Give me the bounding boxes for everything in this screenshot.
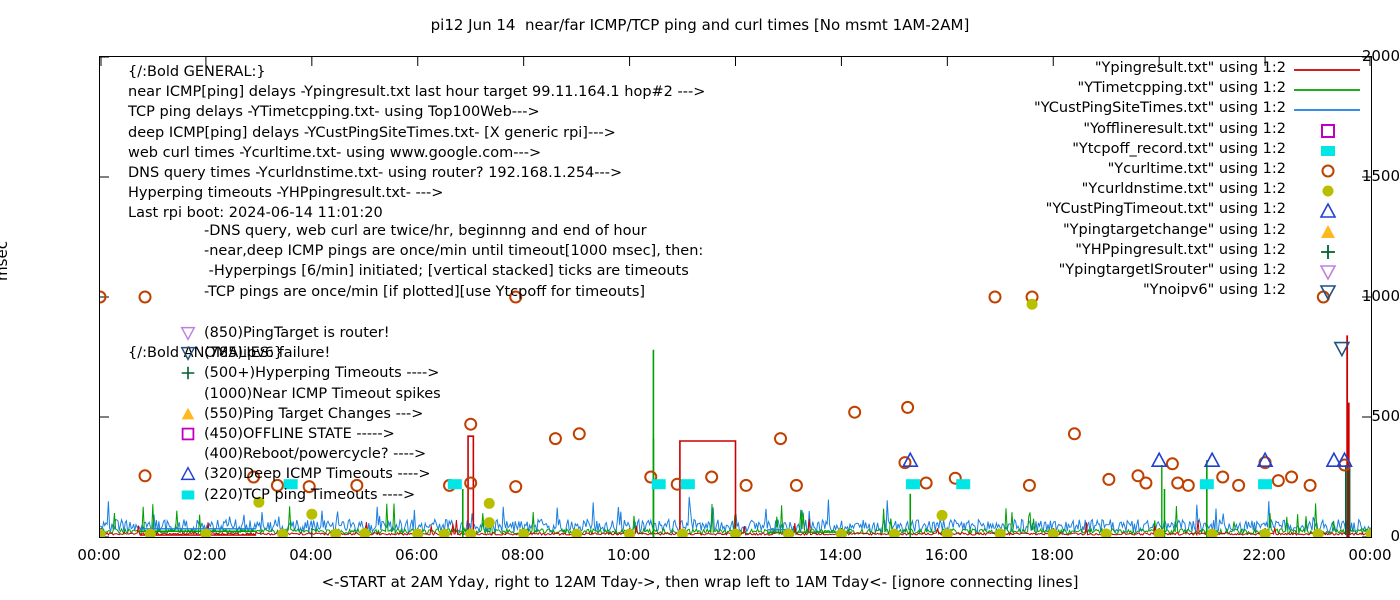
- circle-open-orange-icon: [140, 470, 151, 481]
- anomaly-marker: [178, 486, 200, 504]
- x-tick-label: 16:00: [906, 546, 986, 564]
- anomaly-label: (450)OFFLINE STATE ----->: [204, 426, 395, 442]
- legend-entry: "Ynoipv6" using 1:2: [980, 282, 1372, 302]
- curltime-point: [550, 433, 561, 444]
- measurement-note-line: -TCP pings are once/min [if plotted][use…: [204, 282, 703, 302]
- legend-key: [1292, 60, 1372, 80]
- circle-filled-olive-icon: [1366, 529, 1372, 537]
- measurement-note-line: -near,deep ICMP pings are once/min until…: [204, 241, 703, 261]
- legend-label: "Ycurltime.txt" using 1:2: [1108, 161, 1286, 177]
- anomaly-item: (400)Reboot/powercycle? ---->: [204, 444, 441, 464]
- circle-open-orange-icon: [1217, 472, 1228, 483]
- chart-title: pi12 Jun 14 near/far ICMP/TCP ping and c…: [0, 16, 1400, 34]
- curltime-point: [465, 419, 476, 430]
- curldns-point: [200, 529, 211, 537]
- triangle-down-blue-icon: [1318, 282, 1338, 302]
- legend-entry: "Yofflineresult.txt" using 1:2: [980, 121, 1372, 141]
- measurement-note-line: -DNS query, web curl are twice/hr, begin…: [204, 221, 703, 241]
- curldns-point: [484, 498, 495, 509]
- circle-open-orange-icon: [1233, 480, 1244, 491]
- anomaly-item: (785)ipv6 failure!: [204, 343, 441, 363]
- circle-open-orange-icon: [1140, 478, 1151, 489]
- anomaly-label: (320)Deep ICMP Timeouts ---->: [204, 466, 431, 482]
- curltime-point: [849, 407, 860, 418]
- square-filled-cyan-icon: [681, 479, 695, 489]
- circle-filled-olive-icon: [200, 529, 211, 537]
- anomaly-item: (1000)Near ICMP Timeout spikes: [204, 384, 441, 404]
- curltime-point: [1103, 474, 1114, 485]
- general-annotation-block: {/:Bold GENERAL:}near ICMP[ping] delays …: [128, 62, 705, 224]
- legend-key: [1292, 141, 1372, 161]
- legend-label: "Ynoipv6" using 1:2: [1143, 282, 1286, 298]
- circle-open-orange-icon: [1273, 475, 1284, 486]
- circle-filled-olive-icon: [937, 510, 948, 521]
- anomaly-marker: [178, 465, 200, 483]
- circle-filled-olive-icon: [1207, 529, 1218, 537]
- curldns-point: [889, 529, 900, 537]
- legend-key: [1292, 222, 1372, 242]
- curltime-point: [140, 292, 151, 303]
- legend-key: [1292, 100, 1372, 120]
- legend-label: "YTimetcpping.txt" using 1:2: [1078, 80, 1286, 96]
- circle-filled-olive-icon: [484, 498, 495, 509]
- x-tick-label: 18:00: [1012, 546, 1092, 564]
- legend-key: [1292, 121, 1372, 141]
- circle-open-orange-icon: [465, 478, 476, 489]
- circle-open-orange-icon: [1318, 161, 1338, 181]
- legend-label: "Ypingresult.txt" using 1:2: [1095, 60, 1286, 76]
- curltime-point: [140, 470, 151, 481]
- legend-entry: "YHPpingresult.txt" using 1:2: [980, 242, 1372, 262]
- curltime-point: [1167, 458, 1178, 469]
- general-line: deep ICMP[ping] delays -YCustPingSiteTim…: [128, 123, 705, 143]
- plus-green-icon: [1318, 242, 1338, 262]
- circle-open-orange-icon: [791, 480, 802, 491]
- chart-legend: "Ypingresult.txt" using 1:2"YTimetcpping…: [980, 60, 1372, 302]
- triangle-up-blue-icon: [1318, 201, 1338, 221]
- y-axis-label: msec: [0, 241, 11, 281]
- curltime-point: [921, 478, 932, 489]
- legend-line-sample: [1292, 80, 1372, 100]
- curltime-point: [706, 472, 717, 483]
- legend-key: [1292, 161, 1372, 181]
- anomaly-marker: [178, 425, 200, 443]
- square-filled-cyan-icon: [1318, 141, 1338, 161]
- circle-open-orange-icon: [1183, 480, 1194, 491]
- curldns-point: [1207, 529, 1218, 537]
- near-icmp-plateau: [468, 436, 473, 535]
- curldns-point: [1366, 529, 1372, 537]
- circle-open-orange-icon: [1069, 428, 1080, 439]
- anomalies-list: (850)PingTarget is router!(785)ipv6 fail…: [204, 323, 441, 505]
- measurement-note-line: -Hyperpings [6/min] initiated; [vertical…: [204, 261, 703, 281]
- triangle-down-violet-icon: [1318, 262, 1338, 282]
- legend-label: "YHPpingresult.txt" using 1:2: [1075, 242, 1286, 258]
- x-tick-label: 12:00: [695, 546, 775, 564]
- anomaly-label: (500+)Hyperping Timeouts ---->: [204, 365, 439, 381]
- square-filled-cyan-icon: [906, 479, 920, 489]
- anomaly-item: (850)PingTarget is router!: [204, 323, 441, 343]
- circle-open-orange-icon: [574, 428, 585, 439]
- legend-entry: "Ycurldnstime.txt" using 1:2: [980, 181, 1372, 201]
- circle-open-orange-icon: [849, 407, 860, 418]
- general-line: web curl times -Ycurltime.txt- using www…: [128, 143, 705, 163]
- x-tick-label: 02:00: [165, 546, 245, 564]
- tcpoff-point: [652, 479, 666, 489]
- general-line: DNS query times -Ycurldnstime.txt- using…: [128, 163, 705, 183]
- anomaly-item: (450)OFFLINE STATE ----->: [204, 424, 441, 444]
- circle-open-orange-icon: [140, 292, 151, 303]
- square-filled-cyan-icon: [956, 479, 970, 489]
- square-filled-cyan-icon: [1200, 479, 1214, 489]
- custping-timeout-point: [1152, 453, 1166, 466]
- square-filled-cyan-icon: [178, 486, 198, 504]
- legend-label: "Ypingtargetchange" using 1:2: [1063, 222, 1286, 238]
- anomaly-label: (400)Reboot/powercycle? ---->: [204, 446, 426, 462]
- anomaly-label: (220)TCP ping Timeouts ---->: [204, 487, 415, 503]
- x-tick-label: 04:00: [271, 546, 351, 564]
- tcpoff-point: [1258, 479, 1272, 489]
- square-open-magenta-icon: [178, 425, 198, 443]
- curltime-point: [1273, 475, 1284, 486]
- legend-line-sample: [1292, 100, 1372, 120]
- legend-entry: "YCustPingSiteTimes.txt" using 1:2: [980, 100, 1372, 120]
- curltime-point: [791, 480, 802, 491]
- triangle-up-orange-icon: [1318, 222, 1338, 242]
- circle-filled-olive-icon: [100, 529, 106, 537]
- curltime-point: [1233, 480, 1244, 491]
- circle-filled-olive-icon: [306, 509, 317, 520]
- triangle-up-blue-icon: [1152, 453, 1166, 466]
- general-line: near ICMP[ping] delays -Ypingresult.txt …: [128, 82, 705, 102]
- curltime-point: [574, 428, 585, 439]
- curldns-point: [100, 529, 106, 537]
- x-tick-label: 06:00: [377, 546, 457, 564]
- legend-key: [1292, 262, 1372, 282]
- curldns-point: [937, 510, 948, 521]
- legend-key: [1292, 282, 1372, 302]
- tcpoff-point: [956, 479, 970, 489]
- anomaly-item: (220)TCP ping Timeouts ---->: [204, 485, 441, 505]
- circle-filled-olive-icon: [484, 517, 495, 528]
- circle-open-orange-icon: [921, 478, 932, 489]
- circle-open-orange-icon: [1286, 472, 1297, 483]
- curltime-point: [1305, 480, 1316, 491]
- anomaly-label: (1000)Near ICMP Timeout spikes: [204, 386, 441, 402]
- legend-entry: "Ypingtargetchange" using 1:2: [980, 222, 1372, 242]
- general-line: TCP ping delays -YTimetcpping.txt- using…: [128, 102, 705, 122]
- circle-open-orange-icon: [465, 419, 476, 430]
- curltime-point: [1069, 428, 1080, 439]
- circle-open-orange-icon: [902, 402, 913, 413]
- circle-filled-olive-icon: [836, 529, 847, 537]
- legend-label: "YCustPingTimeout.txt" using 1:2: [1046, 201, 1286, 217]
- x-tick-label: 10:00: [589, 546, 669, 564]
- plus-green-icon: [178, 364, 198, 382]
- curltime-point: [775, 433, 786, 444]
- legend-entry: "YCustPingTimeout.txt" using 1:2: [980, 201, 1372, 221]
- legend-key: [1292, 242, 1372, 262]
- square-filled-cyan-icon: [652, 479, 666, 489]
- anomaly-marker: [178, 324, 200, 342]
- circle-open-orange-icon: [706, 472, 717, 483]
- curltime-point: [510, 481, 521, 492]
- circle-open-orange-icon: [1103, 474, 1114, 485]
- curltime-point: [1217, 472, 1228, 483]
- circle-open-orange-icon: [550, 433, 561, 444]
- x-tick-label: 14:00: [800, 546, 880, 564]
- curltime-point: [741, 480, 752, 491]
- curltime-point: [465, 478, 476, 489]
- curltime-point: [1172, 478, 1183, 489]
- legend-entry: "Ycurltime.txt" using 1:2: [980, 161, 1372, 181]
- curltime-point: [1286, 472, 1297, 483]
- anomaly-label: (850)PingTarget is router!: [204, 325, 390, 341]
- curltime-point: [902, 402, 913, 413]
- anomaly-item: (550)Ping Target Changes --->: [204, 404, 441, 424]
- curldns-point: [306, 509, 317, 520]
- legend-line-sample: [1292, 60, 1372, 80]
- anomaly-label: (550)Ping Target Changes --->: [204, 406, 423, 422]
- circle-open-orange-icon: [1167, 458, 1178, 469]
- x-tick-label: 08:00: [483, 546, 563, 564]
- tcpoff-point: [1200, 479, 1214, 489]
- circle-filled-olive-icon: [889, 529, 900, 537]
- x-tick-label: 00:00: [59, 546, 139, 564]
- tcpoff-point: [906, 479, 920, 489]
- circle-filled-olive-icon: [359, 528, 370, 537]
- general-line: Hyperping timeouts -YHPpingresult.txt- -…: [128, 183, 705, 203]
- anomaly-marker: [178, 344, 200, 362]
- x-axis-label: <-START at 2AM Yday, right to 12AM Tday-…: [0, 573, 1400, 591]
- anomaly-item: (320)Deep ICMP Timeouts ---->: [204, 464, 441, 484]
- legend-entry: "YTimetcpping.txt" using 1:2: [980, 80, 1372, 100]
- triangle-up-orange-icon: [178, 405, 198, 423]
- anomaly-marker: [178, 364, 200, 382]
- legend-label: "Yofflineresult.txt" using 1:2: [1083, 121, 1286, 137]
- triangle-down-violet-icon: [178, 324, 198, 342]
- circle-open-orange-icon: [1305, 480, 1316, 491]
- legend-label: "YpingtargetISrouter" using 1:2: [1059, 262, 1286, 278]
- triangle-down-blue-icon: [178, 344, 198, 362]
- legend-key: [1292, 181, 1372, 201]
- curldns-point: [484, 517, 495, 528]
- x-tick-label: 22:00: [1224, 546, 1304, 564]
- curltime-point: [1024, 480, 1035, 491]
- general-heading: {/:Bold GENERAL:}: [128, 62, 705, 82]
- circle-open-orange-icon: [1172, 478, 1183, 489]
- square-filled-cyan-icon: [448, 479, 462, 489]
- measurement-notes-block: -DNS query, web curl are twice/hr, begin…: [204, 221, 703, 302]
- tcpoff-point: [681, 479, 695, 489]
- anomaly-label: (785)ipv6 failure!: [204, 345, 330, 361]
- circle-open-orange-icon: [775, 433, 786, 444]
- legend-label: "Ycurldnstime.txt" using 1:2: [1082, 181, 1286, 197]
- x-tick-label: 00:00: [1330, 546, 1400, 564]
- chart-page: pi12 Jun 14 near/far ICMP/TCP ping and c…: [0, 0, 1400, 600]
- legend-entry: "YpingtargetISrouter" using 1:2: [980, 262, 1372, 282]
- curldns-point: [359, 528, 370, 537]
- legend-entry: "Ypingresult.txt" using 1:2: [980, 60, 1372, 80]
- legend-entry: "Ytcpoff_record.txt" using 1:2: [980, 141, 1372, 161]
- curltime-point: [1183, 480, 1194, 491]
- legend-label: "Ytcpoff_record.txt" using 1:2: [1072, 141, 1286, 157]
- circle-filled-olive-icon: [1318, 181, 1338, 201]
- curldns-point: [836, 529, 847, 537]
- legend-label: "YCustPingSiteTimes.txt" using 1:2: [1034, 100, 1286, 116]
- tcpoff-point: [448, 479, 462, 489]
- triangle-up-blue-icon: [178, 465, 198, 483]
- x-tick-label: 20:00: [1118, 546, 1198, 564]
- anomaly-marker: [178, 405, 200, 423]
- legend-key: [1292, 201, 1372, 221]
- legend-key: [1292, 80, 1372, 100]
- anomalies-annotation-block: {/:Bold ANOMALIES:} (850)PingTarget is r…: [128, 303, 283, 424]
- circle-open-orange-icon: [1024, 480, 1035, 491]
- circle-open-orange-icon: [510, 481, 521, 492]
- curltime-point: [1140, 478, 1151, 489]
- anomaly-item: (500+)Hyperping Timeouts ---->: [204, 363, 441, 383]
- circle-open-orange-icon: [741, 480, 752, 491]
- square-filled-cyan-icon: [1258, 479, 1272, 489]
- square-open-magenta-icon: [1318, 121, 1338, 141]
